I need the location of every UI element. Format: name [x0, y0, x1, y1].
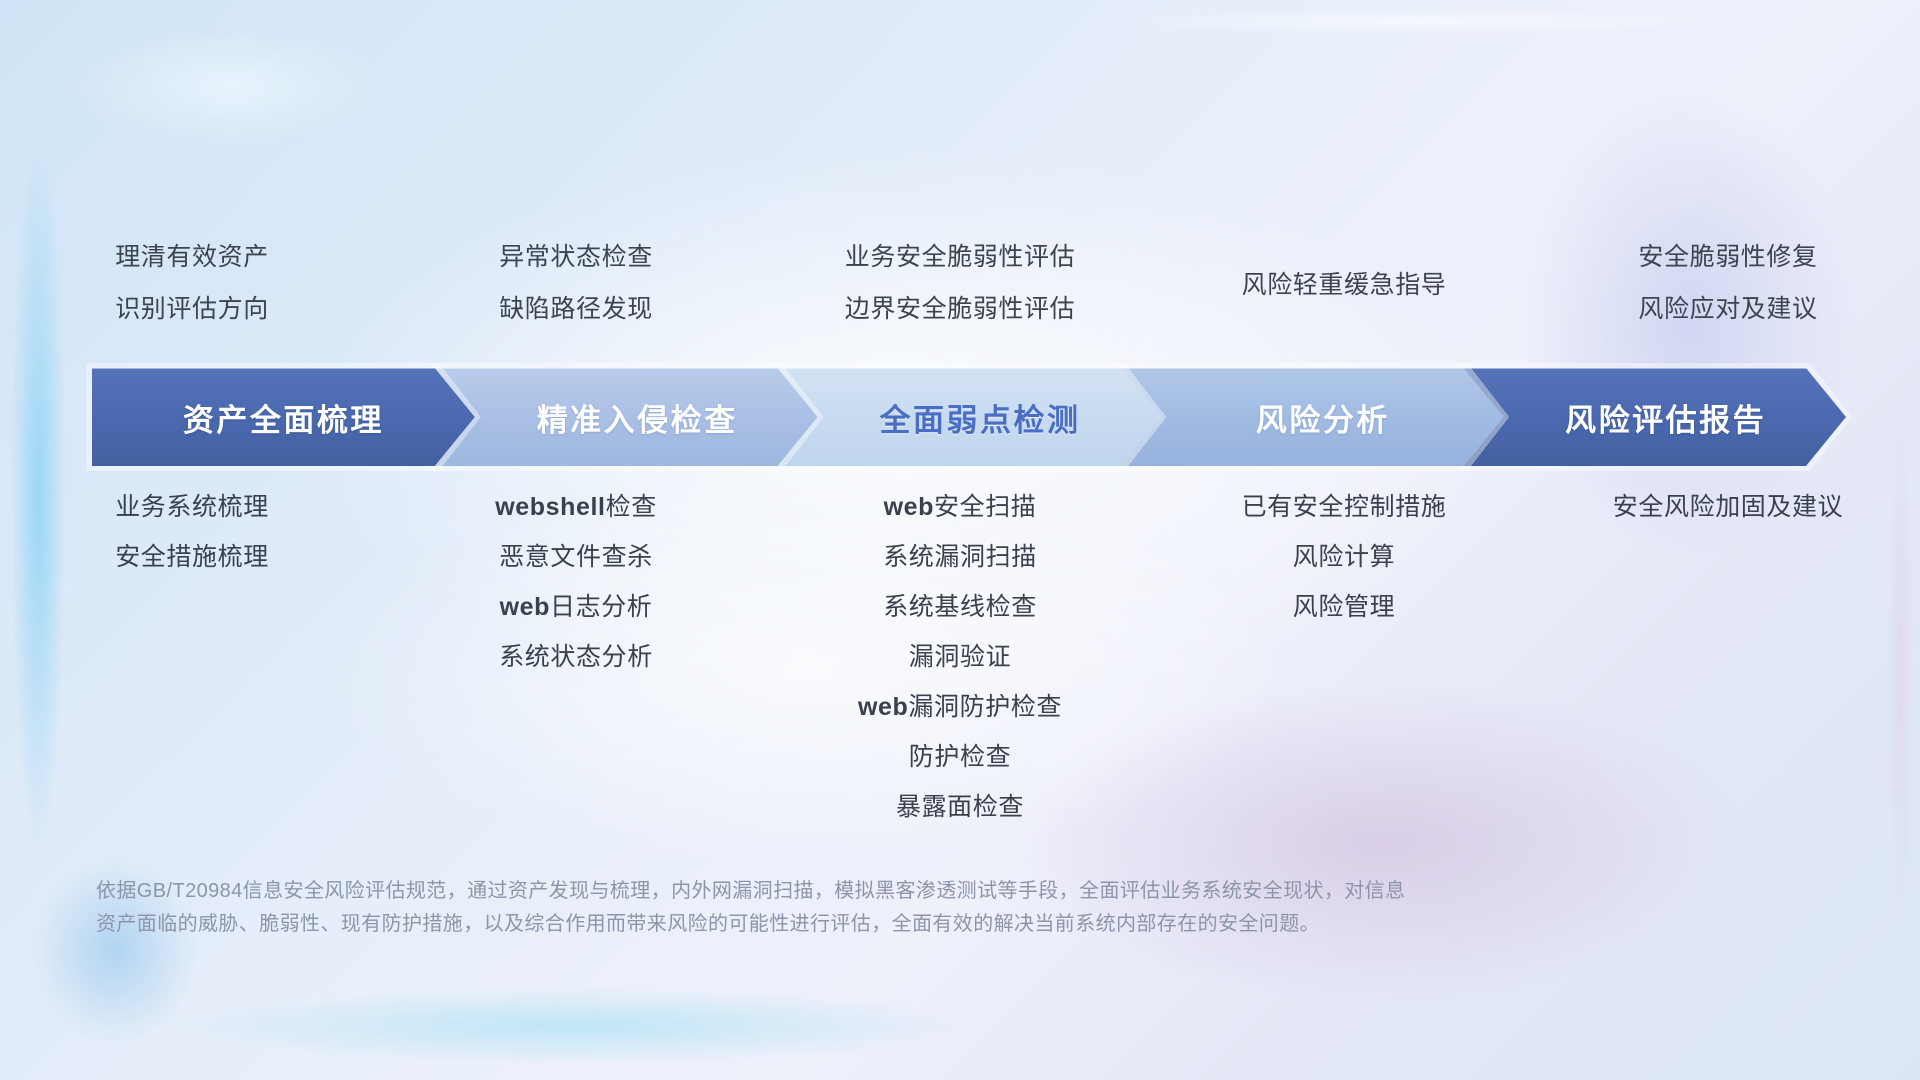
detail-item: 风险计算	[1293, 545, 1395, 570]
top-notes-col-intrusion-check: 异常状态检查缺陷路径发现	[384, 245, 768, 322]
detail-item: 安全措施梳理	[115, 545, 269, 570]
detail-item: 漏洞验证	[909, 645, 1011, 670]
detail-item: 暴露面检查	[896, 795, 1024, 820]
footer-line-2: 资产面临的威胁、脆弱性、现有防护措施，以及综合作用而带来风险的可能性进行评估，全…	[96, 908, 1616, 941]
detail-item: web日志分析	[500, 595, 653, 620]
top-note: 缺陷路径发现	[499, 297, 653, 322]
footer-line-1: 依据GB/T20984信息安全风险评估规范，通过资产发现与梳理，内外网漏洞扫描，…	[96, 875, 1616, 908]
process-step-intrusion-check[interactable]: 精准入侵检查	[435, 368, 818, 466]
top-note: 异常状态检查	[499, 245, 653, 270]
detail-list-weakness-detection: web安全扫描系统漏洞扫描系统基线检查漏洞验证web漏洞防护检查防护检查暴露面检…	[768, 495, 1152, 820]
top-notes-col-risk-report: 安全脆弱性修复风险应对及建议	[1536, 245, 1920, 322]
top-notes-col-risk-analysis: 风险轻重缓急指导	[1152, 245, 1536, 322]
process-step-weakness-detection[interactable]: 全面弱点检测	[778, 368, 1161, 466]
top-note: 业务安全脆弱性评估	[845, 245, 1075, 270]
detail-list-risk-analysis: 已有安全控制措施风险计算风险管理	[1152, 495, 1536, 820]
detail-item: webshell检查	[495, 495, 657, 520]
process-step-risk-analysis[interactable]: 风险分析	[1120, 368, 1503, 466]
detail-item: 已有安全控制措施	[1242, 495, 1447, 520]
top-notes-col-asset-inventory: 理清有效资产识别评估方向	[0, 245, 384, 322]
process-step-label: 风险分析	[1256, 395, 1390, 440]
detail-item: 恶意文件查杀	[499, 545, 653, 570]
detail-list-asset-inventory: 业务系统梳理安全措施梳理	[0, 495, 384, 820]
top-note: 理清有效资产	[115, 245, 269, 270]
detail-item: 安全风险加固及建议	[1613, 495, 1843, 520]
process-step-label: 全面弱点检测	[879, 395, 1080, 440]
detail-item: 系统漏洞扫描	[883, 545, 1037, 570]
process-step-label: 精准入侵检查	[537, 395, 738, 440]
footer-description: 依据GB/T20984信息安全风险评估规范，通过资产发现与梳理，内外网漏洞扫描，…	[96, 875, 1616, 941]
top-notes-col-weakness-detection: 业务安全脆弱性评估边界安全脆弱性评估	[768, 245, 1152, 322]
detail-list-risk-report: 安全风险加固及建议	[1536, 495, 1920, 820]
detail-item: web漏洞防护检查	[858, 695, 1062, 720]
detail-item: 风险管理	[1293, 595, 1395, 620]
process-step-asset-inventory[interactable]: 资产全面梳理	[92, 368, 475, 466]
top-note: 边界安全脆弱性评估	[845, 297, 1075, 322]
top-note: 识别评估方向	[115, 297, 269, 322]
detail-item: 系统状态分析	[499, 645, 653, 670]
process-step-label: 资产全面梳理	[183, 395, 384, 440]
process-chevron-bar: 资产全面梳理精准入侵检查全面弱点检测风险分析风险评估报告	[92, 368, 1846, 466]
detail-item: 系统基线检查	[883, 595, 1037, 620]
detail-item: 防护检查	[909, 745, 1011, 770]
top-note: 安全脆弱性修复	[1638, 245, 1817, 270]
top-note: 风险轻重缓急指导	[1242, 273, 1447, 298]
detail-list-intrusion-check: webshell检查恶意文件查杀web日志分析系统状态分析	[384, 495, 768, 820]
detail-item: web安全扫描	[884, 495, 1037, 520]
detail-item: 业务系统梳理	[115, 495, 269, 520]
process-step-risk-report[interactable]: 风险评估报告	[1463, 368, 1846, 466]
process-step-label: 风险评估报告	[1565, 395, 1766, 440]
bottom-detail-lists: 业务系统梳理安全措施梳理webshell检查恶意文件查杀web日志分析系统状态分…	[0, 495, 1920, 820]
top-notes-row: 理清有效资产识别评估方向异常状态检查缺陷路径发现业务安全脆弱性评估边界安全脆弱性…	[0, 245, 1920, 322]
top-note: 风险应对及建议	[1638, 297, 1817, 322]
